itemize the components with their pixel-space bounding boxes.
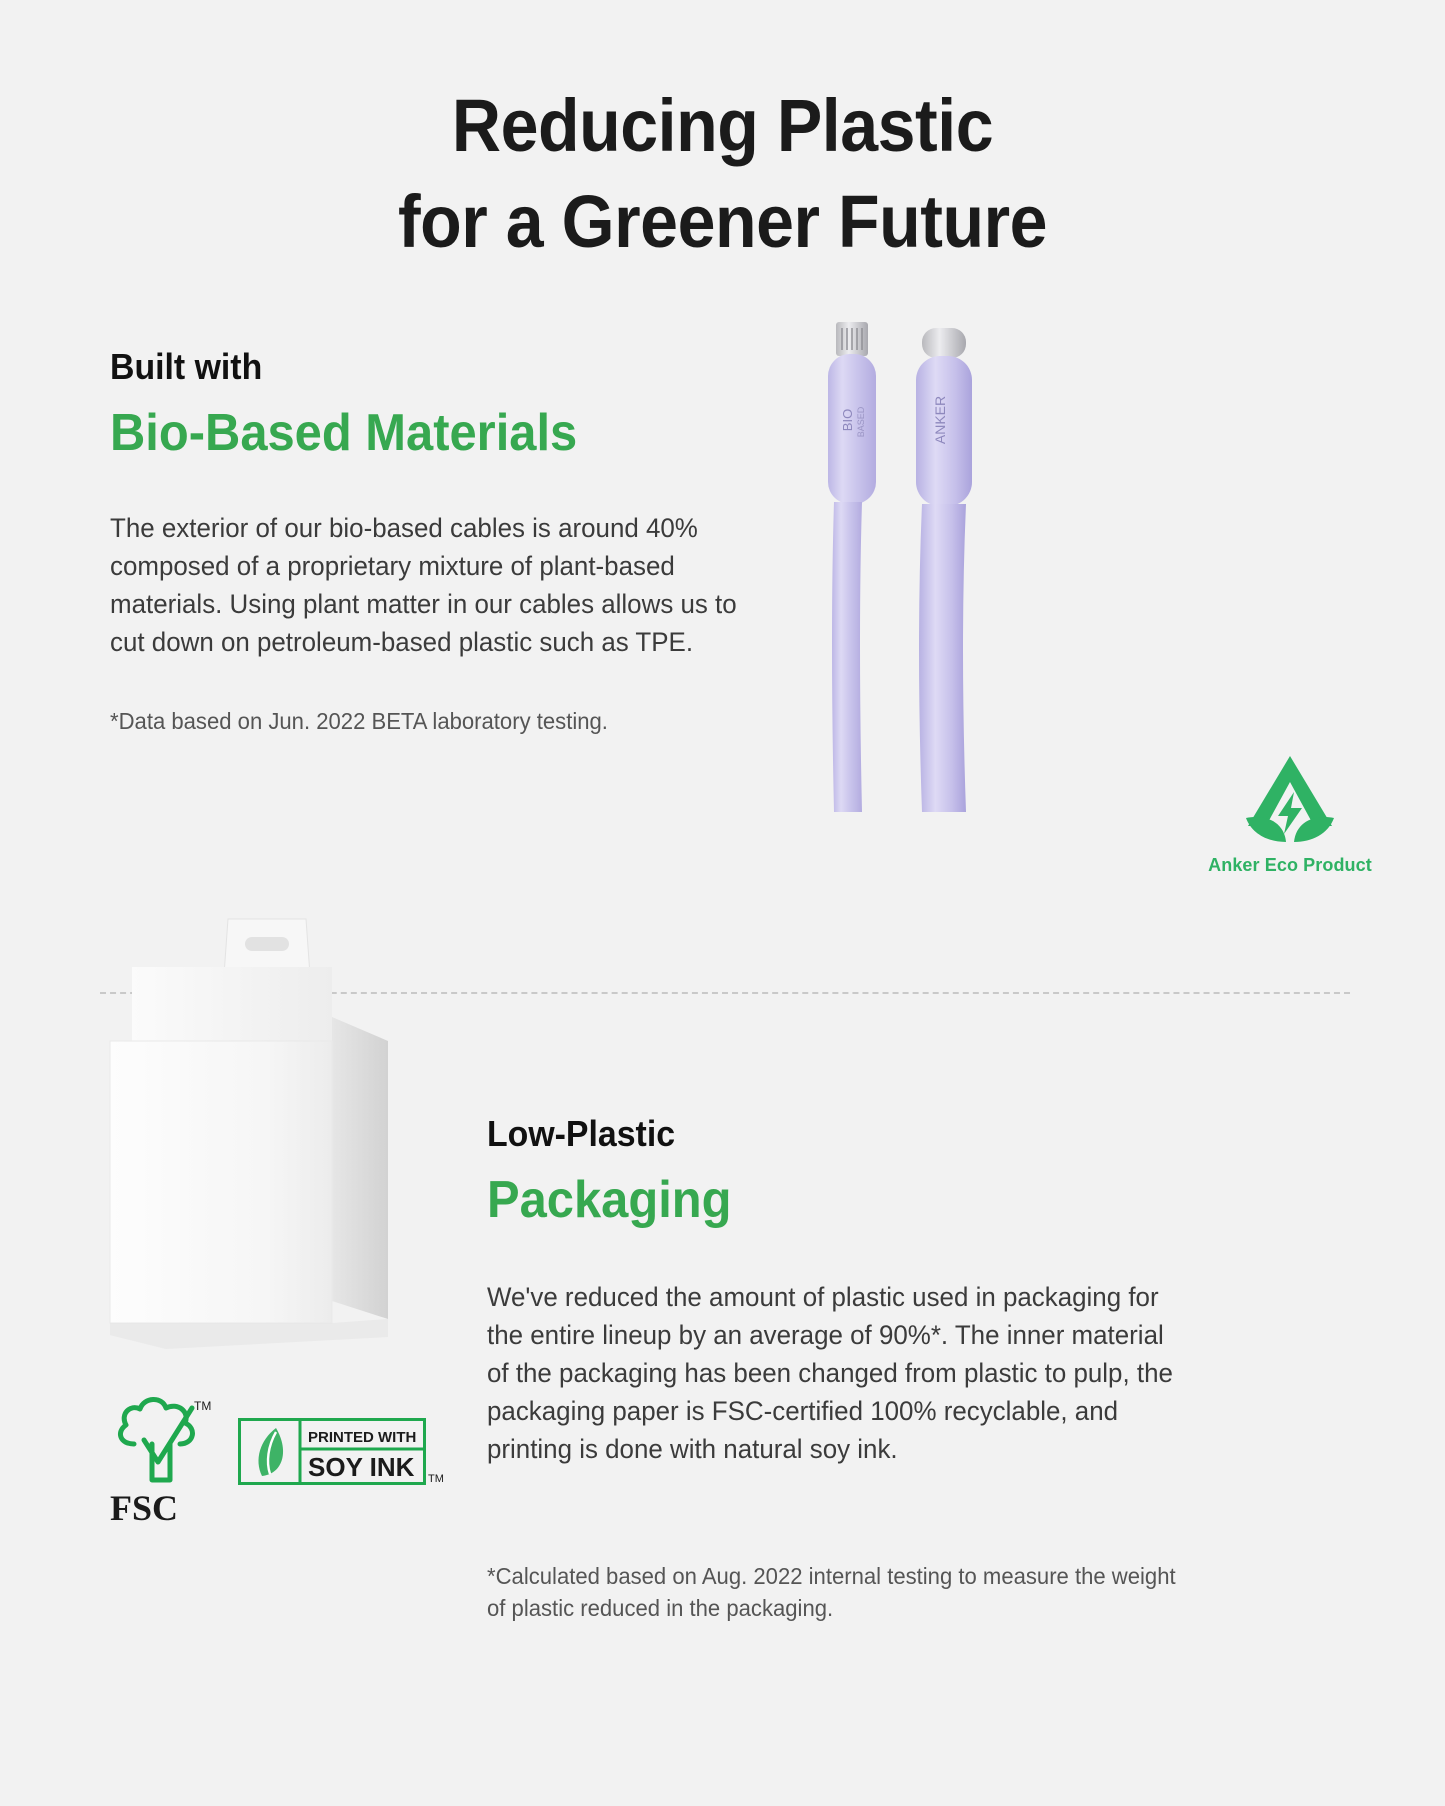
- page-title-line-1: Reducing Plastic: [58, 78, 1387, 174]
- usb-c-connector: ANKER: [916, 328, 972, 812]
- section-low-plastic-packaging: Low-Plastic Packaging We've reduced the …: [487, 1112, 1227, 1468]
- section-bio-footnote: *Data based on Jun. 2022 BETA laboratory…: [110, 705, 782, 737]
- section-packaging-kicker: Low-Plastic: [487, 1112, 1183, 1156]
- bio-based-cable-image: BIO BASED ANKER: [800, 312, 1060, 812]
- soy-ink-leaf-icon: [258, 1428, 283, 1476]
- section-packaging-footnote: *Calculated based on Aug. 2022 internal …: [487, 1560, 1188, 1624]
- fsc-certification-logo: FSC TM: [108, 1388, 218, 1528]
- soy-ink-trademark: TM: [428, 1473, 444, 1485]
- anker-brand-label: ANKER: [932, 396, 948, 444]
- anker-eco-product-badge: Anker Eco Product: [1190, 748, 1390, 876]
- section-bio-kicker: Built with: [110, 345, 768, 389]
- section-bio-headline: Bio-Based Materials: [110, 401, 768, 465]
- section-packaging-body: We've reduced the amount of plastic used…: [487, 1278, 1188, 1468]
- section-bio-body: The exterior of our bio-based cables is …: [110, 509, 763, 661]
- lightning-connector: BIO BASED: [828, 322, 876, 812]
- soy-ink-line2: SOY INK: [308, 1452, 415, 1482]
- soy-ink-certification-logo: PRINTED WITH SOY INK TM: [238, 1418, 446, 1500]
- section-packaging-headline: Packaging: [487, 1168, 1183, 1232]
- fsc-wordmark: FSC: [110, 1488, 178, 1528]
- fsc-trademark: TM: [194, 1399, 211, 1413]
- infographic-page: Reducing Plastic for a Greener Future Bu…: [0, 0, 1445, 1806]
- fsc-tree-checkmark-icon: [120, 1399, 192, 1480]
- page-title-line-2: for a Greener Future: [58, 174, 1387, 270]
- soy-ink-line1: PRINTED WITH: [308, 1429, 416, 1446]
- anker-eco-leaf-bolt-icon: [1190, 748, 1390, 846]
- eco-badge-label: Anker Eco Product: [1190, 855, 1390, 876]
- section-bio-based-materials: Built with Bio-Based Materials The exter…: [110, 345, 810, 737]
- bio-label-line1: BIO: [840, 409, 855, 431]
- packaging-box-image: [88, 905, 488, 1375]
- bio-label-line2: BASED: [856, 406, 866, 437]
- page-title: Reducing Plastic for a Greener Future: [0, 78, 1445, 270]
